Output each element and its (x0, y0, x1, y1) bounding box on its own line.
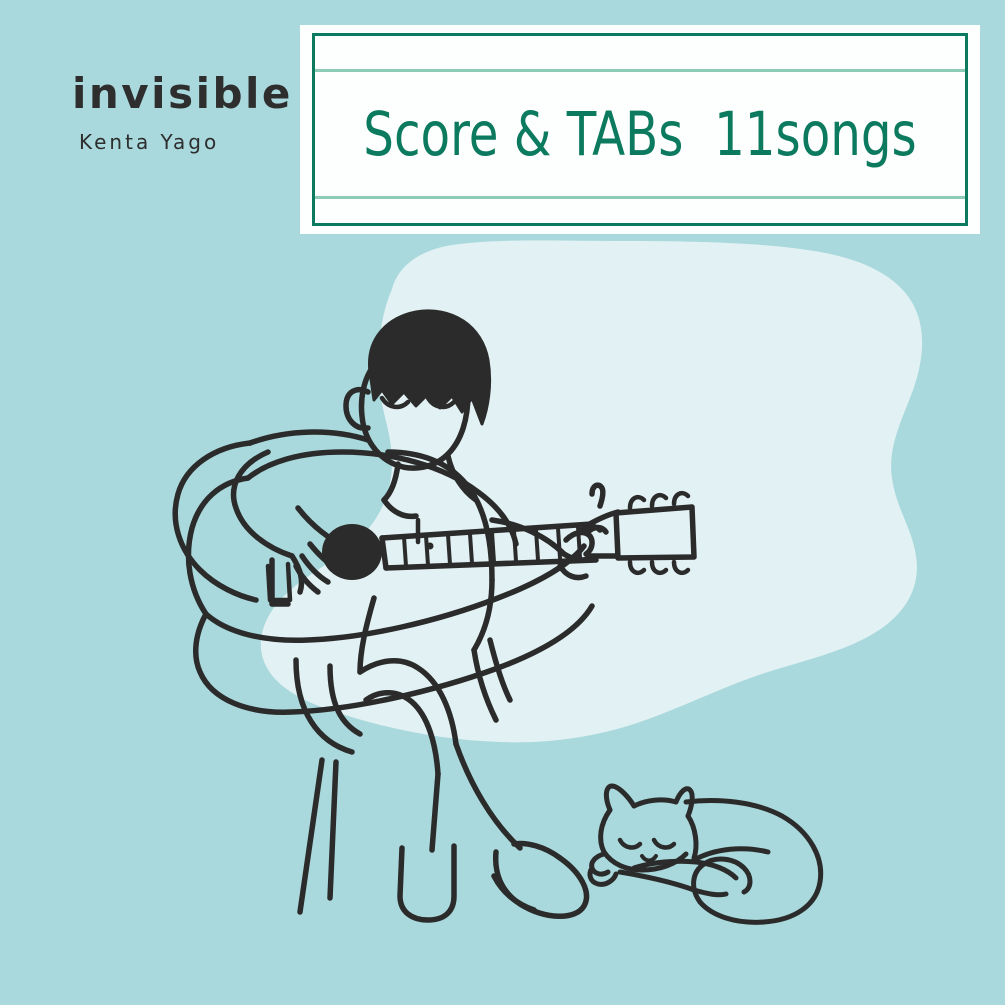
banner-divider-bottom (315, 196, 965, 199)
page-title: invisible (72, 72, 302, 116)
banner-frame: Score & TABs 11songs (312, 33, 968, 226)
artist-name: Kenta Yago (79, 130, 302, 154)
title-block: invisible Kenta Yago (72, 72, 302, 154)
score-banner: Score & TABs 11songs (300, 25, 980, 234)
album-cover: invisible Kenta Yago Score & TABs 11song… (0, 0, 1005, 1005)
banner-headline: Score & TABs 11songs (354, 72, 926, 196)
